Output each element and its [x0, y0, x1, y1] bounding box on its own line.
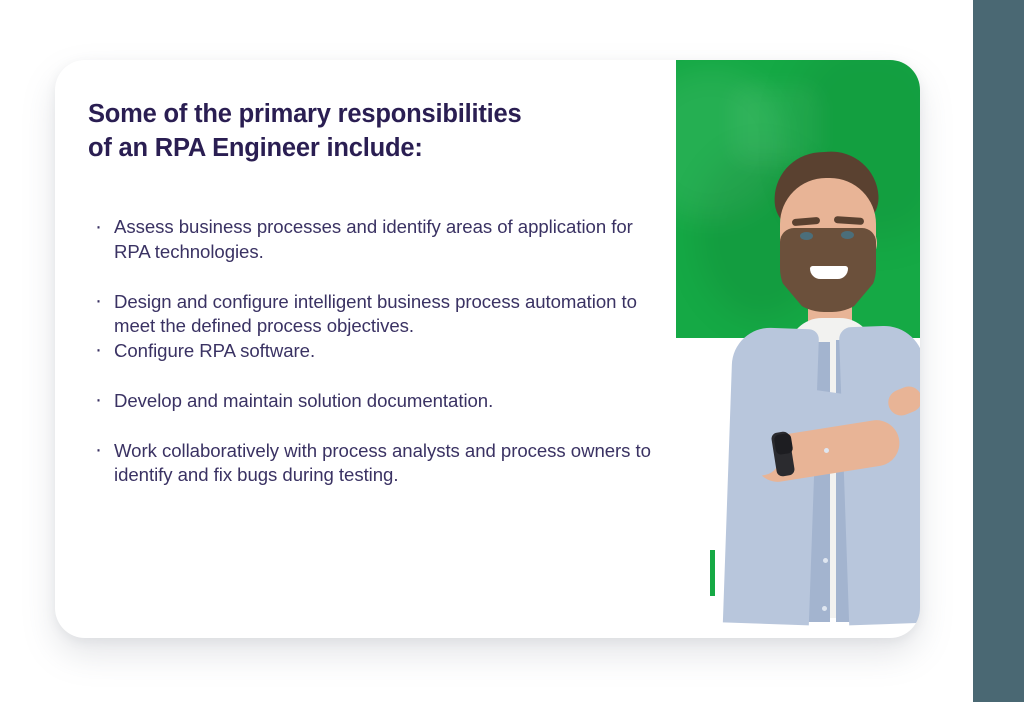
beard — [780, 228, 876, 312]
list-item: Develop and maintain solution documentat… — [88, 389, 658, 414]
list-item: Assess business processes and identify a… — [88, 215, 658, 264]
shirt-button — [824, 448, 829, 453]
list-item: Configure RPA software. — [88, 339, 658, 364]
arm-upper — [786, 387, 920, 449]
text-column: Some of the primary responsibilities of … — [88, 98, 658, 488]
shirt-right-panel — [839, 325, 920, 626]
photo-panel — [676, 60, 920, 638]
shirt-placket-left — [796, 342, 830, 622]
hair — [771, 148, 880, 233]
shirt-button — [822, 606, 827, 611]
shirt-left-panel — [723, 327, 819, 626]
list-item: Work collaboratively with process analys… — [88, 439, 658, 488]
responsibilities-list: Assess business processes and identify a… — [88, 215, 658, 488]
green-background-panel — [676, 60, 920, 338]
face — [780, 178, 876, 298]
shirt-placket-right — [836, 340, 872, 622]
eyebrow-right — [834, 216, 864, 225]
smartwatch-band — [771, 431, 796, 477]
shirt-cuff-right — [849, 414, 906, 478]
eye-left — [800, 232, 813, 240]
green-sliver-right — [909, 564, 914, 594]
smartwatch-face — [774, 433, 794, 455]
mouth — [810, 266, 848, 279]
eyebrow-left — [792, 217, 821, 226]
t-shirt — [788, 318, 874, 618]
right-slate-bar — [973, 0, 1024, 702]
green-shadow-blob — [696, 150, 826, 320]
ear — [856, 228, 877, 258]
screenshot-root: Some of the primary responsibilities of … — [0, 0, 1024, 702]
green-sliver-left — [710, 550, 715, 596]
shirt-cuff-left — [731, 417, 782, 479]
page-title: Some of the primary responsibilities of … — [88, 98, 658, 165]
neck — [808, 296, 852, 338]
content-card: Some of the primary responsibilities of … — [55, 60, 920, 638]
shirt-button — [823, 558, 828, 563]
hand — [884, 383, 920, 420]
green-highlight-blob-2 — [731, 85, 821, 165]
list-item: Design and configure intelligent busines… — [88, 290, 658, 339]
green-shadow-blob-right — [790, 60, 920, 240]
green-base — [676, 60, 920, 338]
green-highlight-blob — [676, 70, 786, 220]
arm-lower — [751, 417, 902, 485]
person-photo — [676, 60, 920, 638]
eye-right — [841, 231, 854, 239]
